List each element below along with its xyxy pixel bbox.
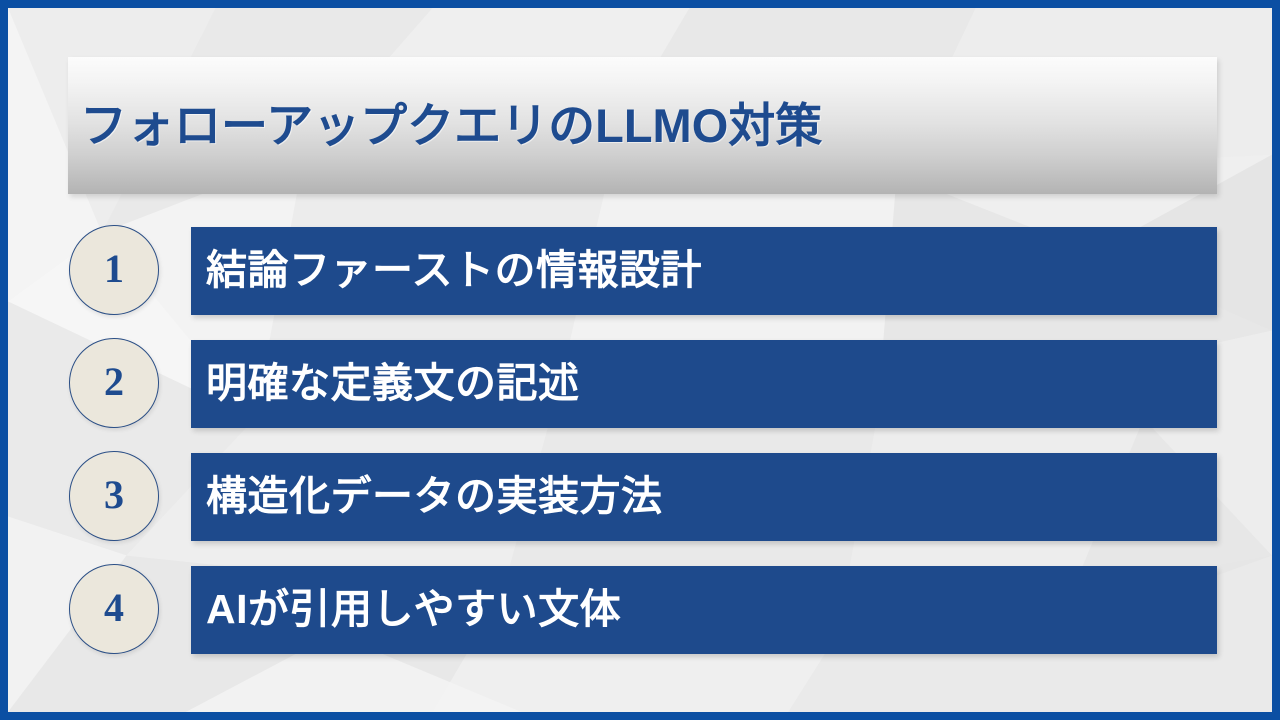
list-item-bar[interactable]: 明確な定義文の記述 bbox=[191, 340, 1217, 428]
page-title: フォローアップクエリのLLMO対策 bbox=[80, 100, 822, 152]
step-number-badge: 4 bbox=[69, 564, 159, 654]
list-item-bar[interactable]: AIが引用しやすい文体 bbox=[191, 566, 1217, 654]
step-number-label: 4 bbox=[104, 588, 124, 628]
step-number-label: 2 bbox=[104, 362, 124, 402]
step-number-badge: 2 bbox=[69, 338, 159, 428]
step-number-label: 3 bbox=[104, 475, 124, 515]
list-item-label: 結論ファーストの情報設計 bbox=[206, 248, 702, 293]
list-item[interactable]: 2 明確な定義文の記述 bbox=[8, 340, 1272, 428]
list-item-label: 明確な定義文の記述 bbox=[206, 361, 580, 406]
list-item-label: 構造化データの実装方法 bbox=[206, 474, 663, 519]
title-banner: フォローアップクエリのLLMO対策 bbox=[68, 57, 1217, 194]
list-item-label: AIが引用しやすい文体 bbox=[206, 587, 621, 632]
list-item-bar[interactable]: 結論ファーストの情報設計 bbox=[191, 227, 1217, 315]
step-number-label: 1 bbox=[104, 249, 124, 289]
numbered-list: 1 結論ファーストの情報設計 2 明確な定義文の記述 3 構造化データの実装方法 bbox=[8, 227, 1272, 679]
slide-canvas: フォローアップクエリのLLMO対策 1 結論ファーストの情報設計 2 明確な定義… bbox=[0, 0, 1280, 720]
step-number-badge: 3 bbox=[69, 451, 159, 541]
step-number-badge: 1 bbox=[69, 225, 159, 315]
list-item[interactable]: 4 AIが引用しやすい文体 bbox=[8, 566, 1272, 654]
list-item[interactable]: 1 結論ファーストの情報設計 bbox=[8, 227, 1272, 315]
list-item-bar[interactable]: 構造化データの実装方法 bbox=[191, 453, 1217, 541]
list-item[interactable]: 3 構造化データの実装方法 bbox=[8, 453, 1272, 541]
